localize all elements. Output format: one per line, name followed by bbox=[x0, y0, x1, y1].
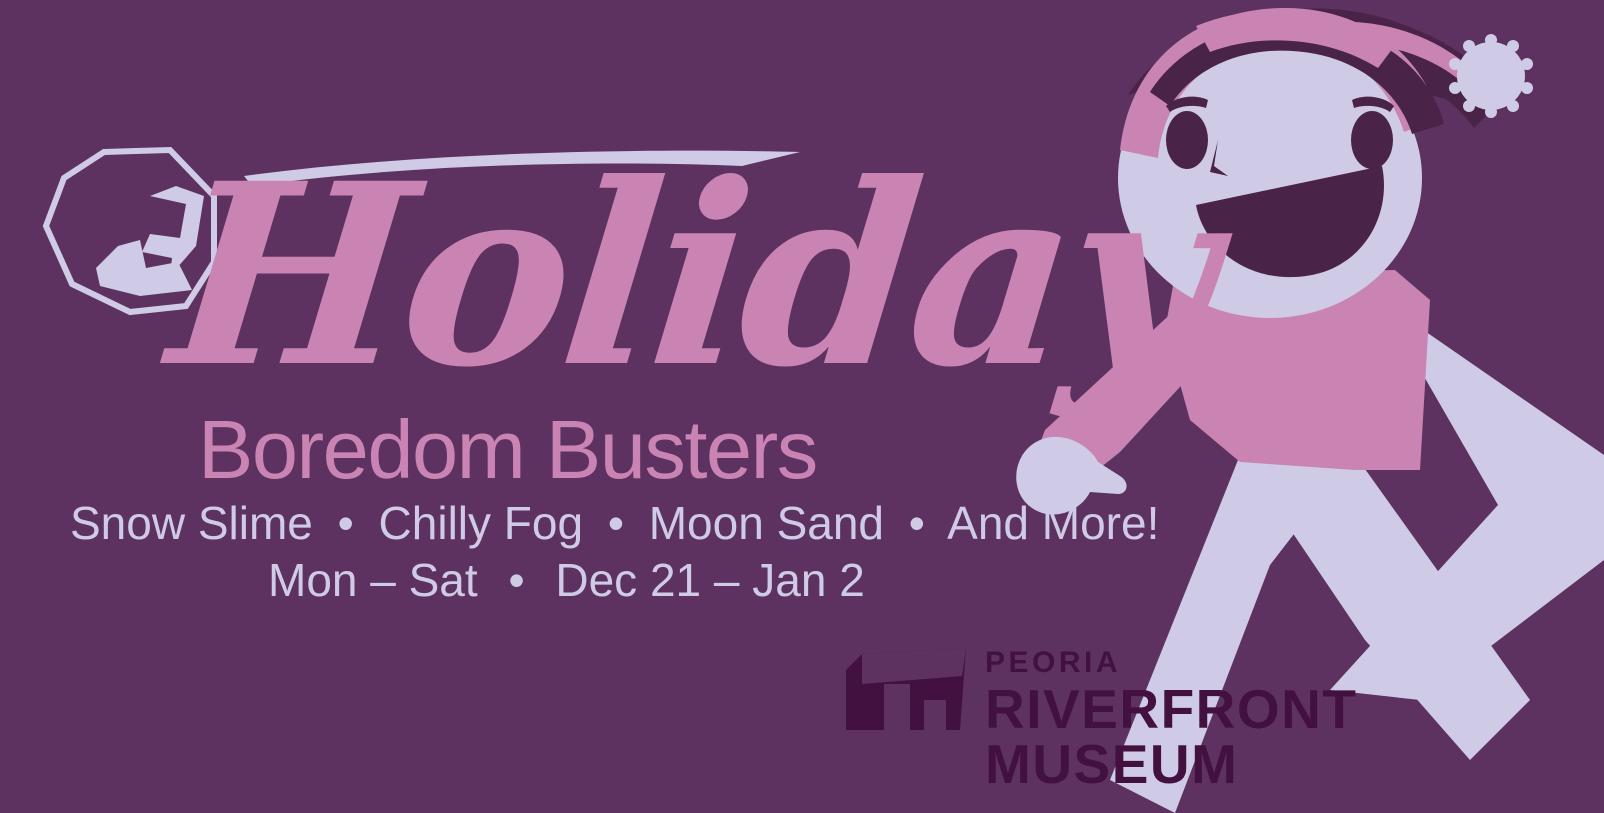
wordmark-riverfront-museum: RIVERFRONT MUSEUM bbox=[985, 682, 1604, 792]
feature-item-3: Moon Sand bbox=[649, 497, 884, 549]
schedule-line: Mon – Sat • Dec 21 – Jan 2 bbox=[268, 553, 865, 607]
feature-separator-2: • bbox=[596, 497, 636, 549]
museum-wordmark: PEORIA RIVERFRONT MUSEUM bbox=[985, 648, 1604, 792]
feature-separator-3: • bbox=[897, 497, 937, 549]
schedule-dates: Dec 21 – Jan 2 bbox=[555, 554, 864, 606]
mascot-right-eye bbox=[1351, 111, 1393, 169]
schedule-separator: • bbox=[490, 554, 542, 606]
wordmark-peoria: PEORIA bbox=[985, 648, 1604, 678]
features-list: Snow Slime • Chilly Fog • Moon Sand • An… bbox=[70, 496, 1159, 550]
schedule-days: Mon – Sat bbox=[268, 554, 478, 606]
feature-item-4: And More! bbox=[947, 497, 1159, 549]
museum-building-mark-icon bbox=[846, 648, 966, 730]
feature-item-2: Chilly Fog bbox=[379, 497, 584, 549]
subtitle: Boredom Busters bbox=[198, 402, 817, 498]
holiday-promo-banner: Holiday Boredom Busters Snow Slime • Chi… bbox=[0, 0, 1604, 813]
feature-separator-1: • bbox=[326, 497, 366, 549]
feature-item-1: Snow Slime bbox=[70, 497, 313, 549]
headline-script: Holiday bbox=[162, 150, 1221, 400]
